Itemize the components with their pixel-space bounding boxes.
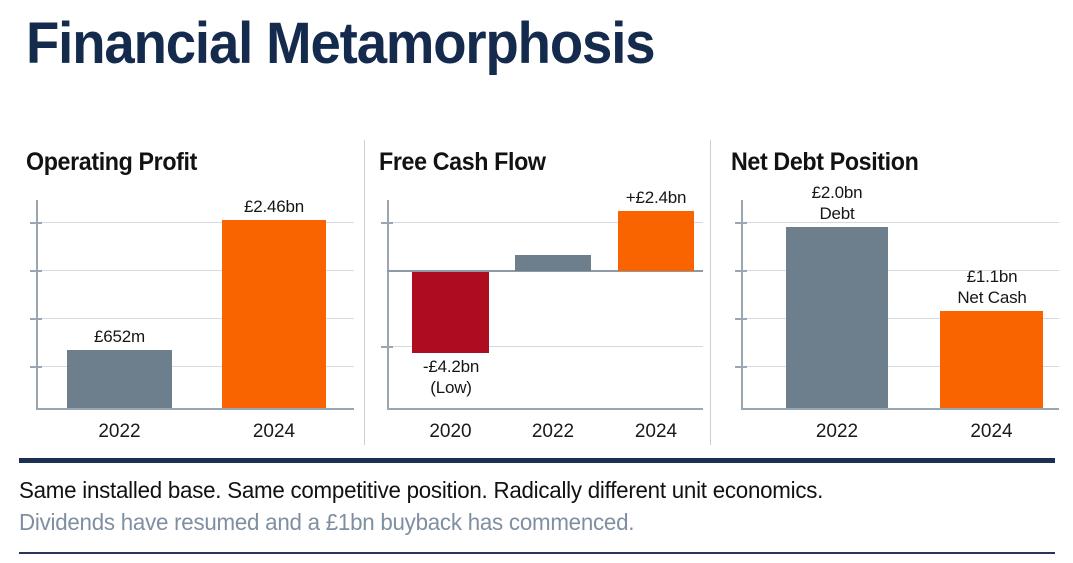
bar-label-line2: Net Cash — [924, 287, 1060, 308]
x-tick-label-net-debt-position-2022: 2022 — [786, 420, 888, 444]
chart-panel-operating-profit: Operating Profit £652m 2022 £2.46bn — [0, 140, 364, 445]
y-axis-tick — [381, 222, 393, 224]
plot-area-net-debt-position: £2.0bn Debt 2022 £1.1bn Net Cash 2024 — [741, 200, 1053, 410]
bar-operating-profit-2022[interactable] — [67, 350, 172, 408]
footer-headline: Same installed base. Same competitive po… — [19, 476, 1024, 505]
x-axis-line — [741, 408, 1059, 410]
bar-free-cash-flow-2022[interactable] — [515, 255, 591, 271]
footer-subline: Dividends have resumed and a £1bn buybac… — [19, 508, 1024, 537]
bar-label-line1: -£4.2bn — [397, 356, 505, 377]
y-axis-tick — [735, 366, 747, 368]
y-axis-tick — [735, 318, 747, 320]
slide-root: Financial Metamorphosis Operating Profit… — [0, 0, 1073, 563]
bar-label-free-cash-flow-2020: -£4.2bn (Low) — [397, 356, 505, 398]
bar-label-line1: £2.0bn — [774, 182, 900, 203]
bar-operating-profit-2024[interactable] — [222, 220, 326, 408]
y-axis-tick — [30, 222, 42, 224]
x-tick-label-free-cash-flow-2022: 2022 — [515, 420, 591, 444]
footer-top-rule — [19, 458, 1055, 463]
page-title: Financial Metamorphosis — [26, 8, 654, 80]
x-tick-label-free-cash-flow-2024: 2024 — [618, 420, 694, 444]
bar-free-cash-flow-2020[interactable] — [412, 272, 489, 353]
chart-title-free-cash-flow: Free Cash Flow — [379, 147, 546, 177]
charts-row: Operating Profit £652m 2022 £2.46bn — [0, 140, 1073, 445]
plot-area-operating-profit: £652m 2022 £2.46bn 2024 — [36, 200, 348, 410]
bar-label-line2: (Low) — [397, 377, 505, 398]
footer: Same installed base. Same competitive po… — [19, 458, 1055, 537]
chart-title-operating-profit: Operating Profit — [26, 147, 197, 177]
y-axis-line — [387, 200, 389, 410]
x-axis-line — [36, 408, 354, 410]
bar-label-operating-profit-2022: £652m — [67, 326, 172, 347]
bar-label-line2: Debt — [774, 203, 900, 224]
bar-net-debt-position-2022[interactable] — [786, 227, 888, 408]
bar-label-net-debt-position-2024: £1.1bn Net Cash — [924, 266, 1060, 308]
y-axis-line — [741, 200, 743, 410]
x-tick-label-net-debt-position-2024: 2024 — [940, 420, 1043, 444]
x-axis-line — [387, 408, 703, 410]
y-axis-tick — [30, 270, 42, 272]
x-tick-label-free-cash-flow-2020: 2020 — [412, 420, 489, 444]
y-axis-tick — [735, 270, 747, 272]
bar-free-cash-flow-2024[interactable] — [618, 211, 694, 271]
bar-net-debt-position-2024[interactable] — [940, 311, 1043, 408]
footer-bottom-rule — [19, 552, 1055, 554]
y-axis-tick — [381, 346, 393, 348]
y-axis-line — [36, 200, 38, 410]
y-axis-tick — [30, 318, 42, 320]
bar-label-net-debt-position-2022: £2.0bn Debt — [774, 182, 900, 224]
y-axis-tick — [735, 222, 747, 224]
chart-title-net-debt-position: Net Debt Position — [731, 147, 918, 177]
chart-panel-net-debt-position: Net Debt Position £2.0bn Debt 2022 — [710, 140, 1073, 445]
chart-panel-free-cash-flow: Free Cash Flow -£4.2bn (Low) 2020 — [364, 140, 710, 445]
bar-label-free-cash-flow-2024: +£2.4bn — [602, 187, 710, 208]
bar-label-operating-profit-2024: £2.46bn — [206, 196, 342, 217]
x-tick-label-operating-profit-2022: 2022 — [67, 420, 172, 444]
bar-label-line1: £1.1bn — [924, 266, 1060, 287]
y-axis-tick — [30, 366, 42, 368]
plot-area-free-cash-flow: -£4.2bn (Low) 2020 2022 +£2.4bn 2024 — [387, 200, 697, 410]
x-tick-label-operating-profit-2024: 2024 — [222, 420, 326, 444]
